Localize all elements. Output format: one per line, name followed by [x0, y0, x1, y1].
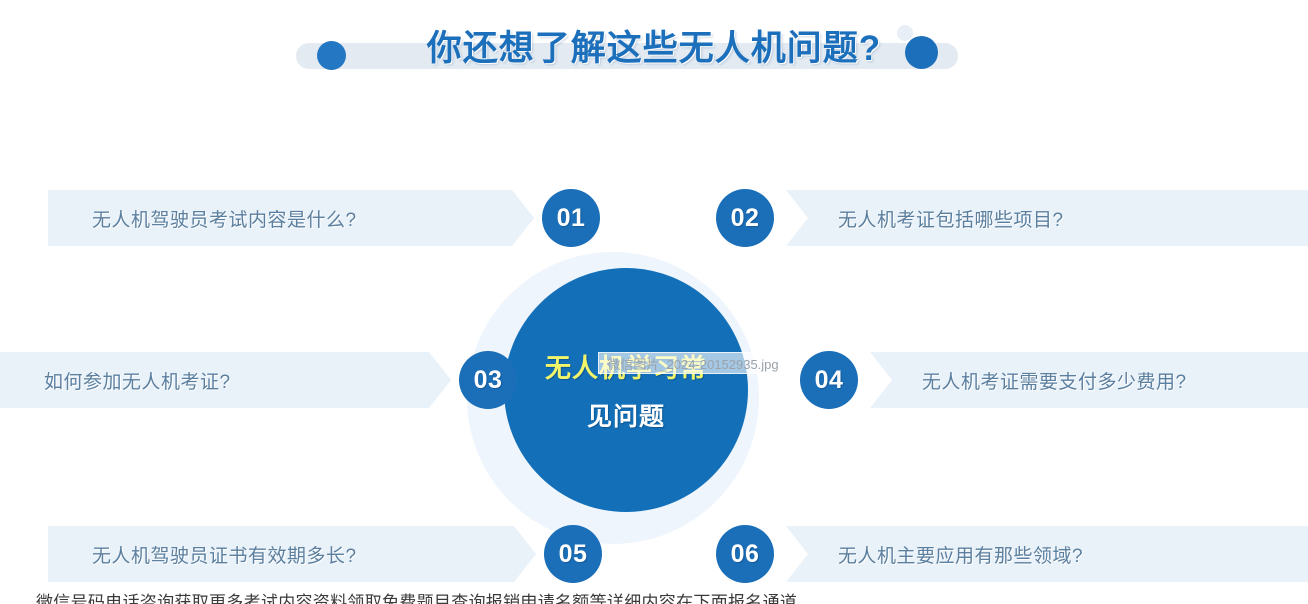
- question-item-05[interactable]: 无人机驾驶员证书有效期多长? 05: [48, 526, 602, 582]
- question-box-03[interactable]: 如何参加无人机考证?: [0, 352, 429, 408]
- question-item-04[interactable]: 04 无人机考证需要支付多少费用?: [800, 352, 1308, 408]
- page-header: 你还想了解这些无人机问题?: [0, 0, 1308, 100]
- question-box-04[interactable]: 无人机考证需要支付多少费用?: [870, 352, 1308, 408]
- bottom-text-strip: 微信号码电话咨询获取更多考试内容资料领取免费题目查询报销申请名额等详细内容在下面…: [0, 588, 1308, 604]
- question-label-02: 无人机考证包括哪些项目?: [838, 205, 1064, 232]
- question-number-badge-03[interactable]: 03: [459, 351, 517, 409]
- center-hub-circle: 无人机学习常 见问题: [504, 268, 748, 512]
- question-label-01: 无人机驾驶员考试内容是什么?: [92, 205, 357, 232]
- question-label-04: 无人机考证需要支付多少费用?: [922, 367, 1187, 394]
- question-number-badge-06[interactable]: 06: [716, 525, 774, 583]
- question-number-badge-05[interactable]: 05: [544, 525, 602, 583]
- question-item-02[interactable]: 02 无人机考证包括哪些项目?: [716, 190, 1308, 246]
- question-number-badge-04[interactable]: 04: [800, 351, 858, 409]
- page-title: 你还想了解这些无人机问题?: [0, 20, 1308, 71]
- question-label-05: 无人机驾驶员证书有效期多长?: [92, 541, 357, 568]
- question-box-01[interactable]: 无人机驾驶员考试内容是什么?: [48, 190, 512, 246]
- question-box-06[interactable]: 无人机主要应用有那些领域?: [786, 526, 1308, 582]
- question-box-02[interactable]: 无人机考证包括哪些项目?: [786, 190, 1308, 246]
- question-number-badge-02[interactable]: 02: [716, 189, 774, 247]
- image-filename-watermark: 微信图片_2024-20152935.jpg: [598, 352, 788, 374]
- question-item-03[interactable]: 如何参加无人机考证? 03: [0, 352, 517, 408]
- question-label-06: 无人机主要应用有那些领域?: [838, 541, 1083, 568]
- question-number-badge-01[interactable]: 01: [542, 189, 600, 247]
- hub-title-line-2: 见问题: [587, 397, 665, 433]
- question-label-03: 如何参加无人机考证?: [44, 367, 231, 394]
- bottom-paragraph: 微信号码电话咨询获取更多考试内容资料领取免费题目查询报销申请名额等详细内容在下面…: [36, 588, 797, 604]
- question-item-01[interactable]: 无人机驾驶员考试内容是什么? 01: [48, 190, 600, 246]
- question-item-06[interactable]: 06 无人机主要应用有那些领域?: [716, 526, 1308, 582]
- question-box-05[interactable]: 无人机驾驶员证书有效期多长?: [48, 526, 514, 582]
